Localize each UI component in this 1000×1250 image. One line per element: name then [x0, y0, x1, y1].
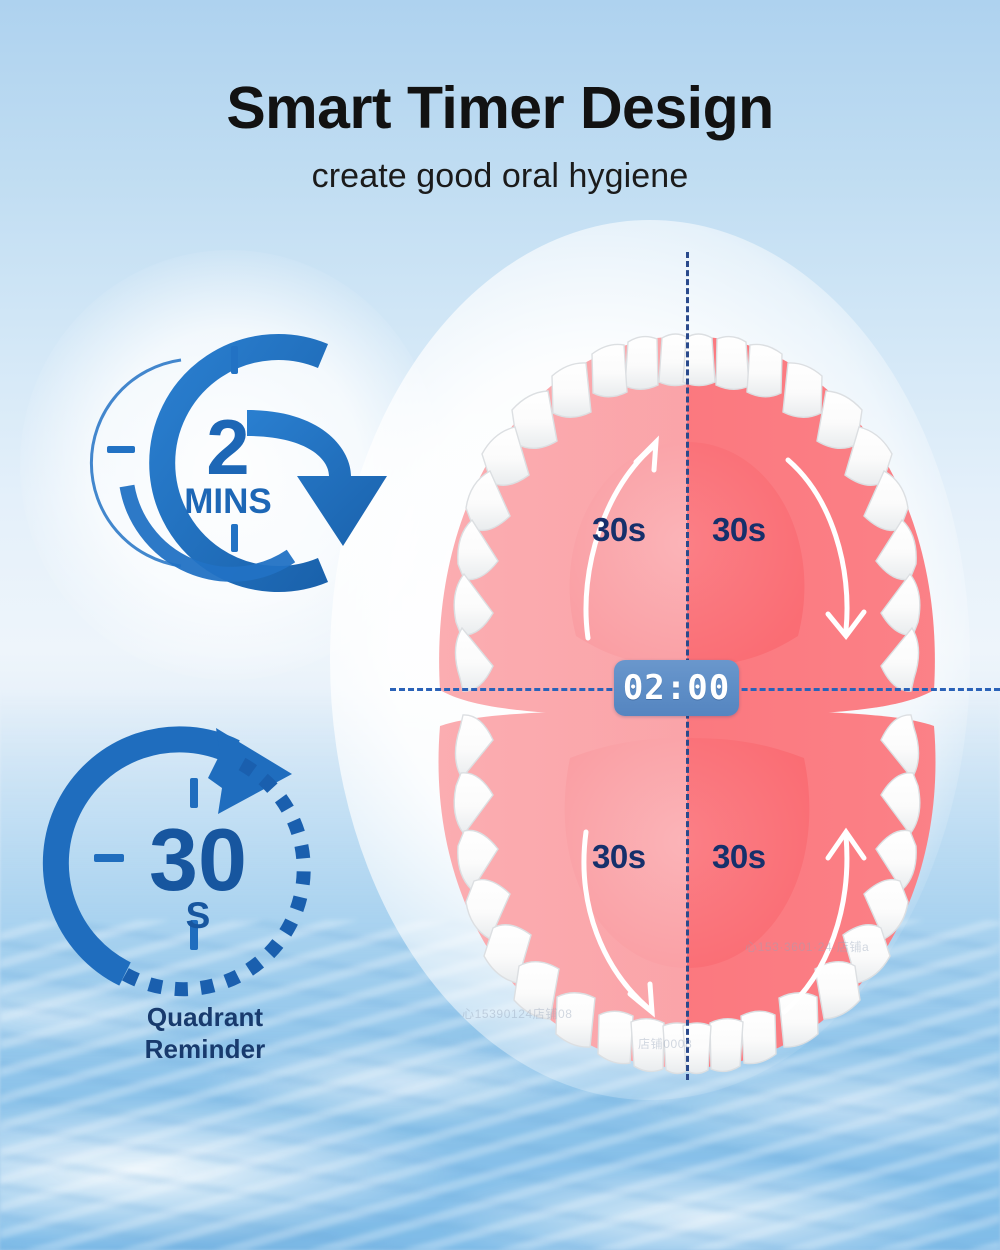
tooth [783, 363, 822, 417]
tooth [710, 1019, 743, 1072]
quadrant-label-upper-right: 30s [712, 511, 766, 549]
tooth [747, 344, 782, 396]
watermark: 心15390124店铺08 [462, 1005, 573, 1022]
two-minutes-timer-icon: 2 MINS [55, 298, 415, 628]
page-title: Smart Timer Design [0, 0, 1000, 140]
tooth [552, 363, 591, 417]
quadrant-label-lower-right: 30s [712, 838, 766, 876]
tooth [716, 337, 749, 390]
product-infographic: Smart Timer Design create good oral hygi… [0, 0, 1000, 1250]
quadrant-label-upper-left: 30s [592, 511, 646, 549]
tick-9-icon [107, 446, 135, 453]
tooth [741, 1011, 776, 1063]
page-subtitle: create good oral hygiene [0, 140, 1000, 196]
tick-6-icon [231, 524, 238, 552]
tooth [815, 962, 860, 1019]
quadrant-caption-line1: Quadrant [30, 1002, 380, 1034]
quadrant-reminder-icon: 30 S Quadrant Reminder [30, 672, 380, 1102]
tooth [625, 337, 658, 390]
quadrant-label-lower-left: 30s [592, 838, 646, 876]
two-minutes-timer-graphic: 2 MINS [55, 298, 415, 628]
down-arrow-icon [247, 410, 387, 546]
quadrant-caption: Quadrant Reminder [30, 1002, 380, 1065]
quadrant-unit: S [186, 895, 211, 936]
tick-9-icon [94, 854, 124, 862]
timer-value: 02:00 [623, 668, 730, 708]
tick-12-icon [190, 778, 198, 808]
tick-12-icon [231, 346, 238, 374]
two-minutes-value: 2 [206, 403, 249, 491]
watermark: 心153·3601·24·店铺a [745, 938, 869, 955]
tooth [592, 344, 627, 396]
header: Smart Timer Design create good oral hygi… [0, 0, 1000, 196]
quadrant-caption-line2: Reminder [30, 1034, 380, 1066]
two-minutes-unit: MINS [184, 482, 272, 521]
tooth [598, 1011, 633, 1063]
watermark: 店铺0008 [638, 1035, 692, 1052]
timer-display[interactable]: 02:00 [614, 660, 739, 716]
